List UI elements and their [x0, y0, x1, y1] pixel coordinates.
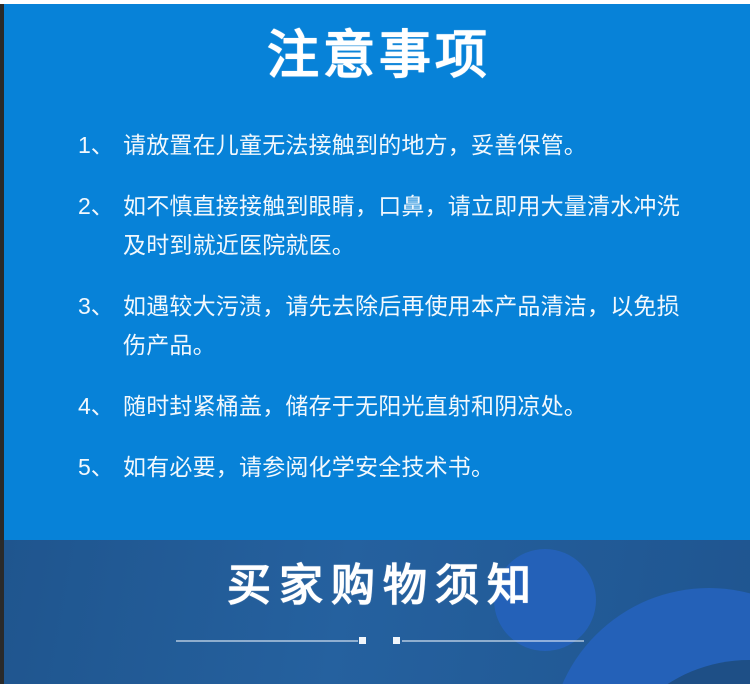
divider-dot-left: [359, 637, 366, 644]
notice-panel-title: 注意事项: [4, 30, 750, 82]
notice-item-number: 5、: [78, 448, 123, 487]
notice-list: 1、 请放置在儿童无法接触到的地方，妥善保管。 2、 如不慎直接接触到眼睛，口鼻…: [78, 126, 694, 509]
buyer-notice-banner: 买家购物须知: [0, 540, 750, 686]
banner-divider: [4, 636, 750, 646]
notice-item-number: 1、: [78, 126, 123, 165]
notice-list-item: 2、 如不慎直接接触到眼睛，口鼻，请立即用大量清水冲洗及时到就近医院就医。: [78, 187, 694, 265]
banner-title: 买家购物须知: [4, 564, 750, 608]
notice-item-text: 如遇较大污渍，请先去除后再使用本产品清洁，以免损伤产品。: [123, 287, 694, 365]
notice-item-number: 2、: [78, 187, 123, 226]
divider-line-right: [402, 640, 584, 642]
notice-list-item: 3、 如遇较大污渍，请先去除后再使用本产品清洁，以免损伤产品。: [78, 287, 694, 365]
divider-line-left: [176, 640, 358, 642]
page-bottom-edge: [0, 684, 750, 688]
divider-dot-right: [393, 637, 400, 644]
notice-item-text: 请放置在儿童无法接触到的地方，妥善保管。: [123, 126, 694, 165]
notice-list-item: 4、 随时封紧桶盖，储存于无阳光直射和阴凉处。: [78, 387, 694, 426]
notice-item-text: 如有必要，请参阅化学安全技术书。: [123, 448, 694, 487]
notice-list-item: 1、 请放置在儿童无法接触到的地方，妥善保管。: [78, 126, 694, 165]
notice-item-number: 3、: [78, 287, 123, 326]
notice-page: 注意事项 1、 请放置在儿童无法接触到的地方，妥善保管。 2、 如不慎直接接触到…: [0, 0, 750, 688]
notice-item-number: 4、: [78, 387, 123, 426]
notice-item-text: 随时封紧桶盖，储存于无阳光直射和阴凉处。: [123, 387, 694, 426]
notice-item-text: 如不慎直接接触到眼睛，口鼻，请立即用大量清水冲洗及时到就近医院就医。: [123, 187, 694, 265]
notice-list-item: 5、 如有必要，请参阅化学安全技术书。: [78, 448, 694, 487]
notice-panel: 注意事项 1、 请放置在儿童无法接触到的地方，妥善保管。 2、 如不慎直接接触到…: [0, 4, 750, 540]
